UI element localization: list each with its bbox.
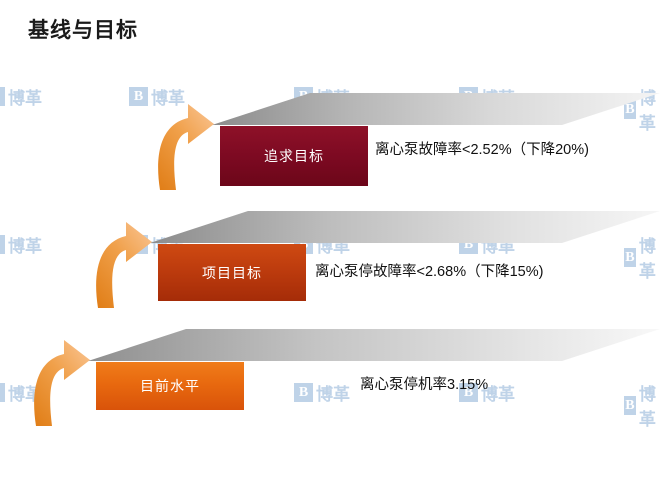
step-description-current-level: 离心泵停机率3.15% [360, 375, 640, 396]
step-box-stretch-target[interactable]: 追求目标 [220, 126, 368, 186]
band-middle [150, 211, 660, 243]
band-top [212, 93, 660, 125]
step-description-project-target: 离心泵停故障率<2.68%（下降15%) [315, 262, 615, 283]
step-box-current-level[interactable]: 目前水平 [96, 362, 244, 410]
step-label: 目前水平 [140, 376, 200, 396]
step-box-project-target[interactable]: 项目目标 [158, 244, 306, 301]
step-label: 项目目标 [202, 263, 262, 283]
step-description-stretch-target: 离心泵故障率<2.52%（下降20%) [375, 140, 645, 161]
band-bottom [88, 329, 660, 361]
upward-curved-arrow [24, 338, 94, 428]
step-label: 追求目标 [264, 146, 324, 166]
slide-root: 基线与目标 B 博革 B 博革 B 博革 B 博革 B 博革 B 博革 B 博革… [0, 0, 660, 495]
upward-curved-arrow [148, 102, 218, 192]
upward-curved-arrow [86, 220, 156, 310]
